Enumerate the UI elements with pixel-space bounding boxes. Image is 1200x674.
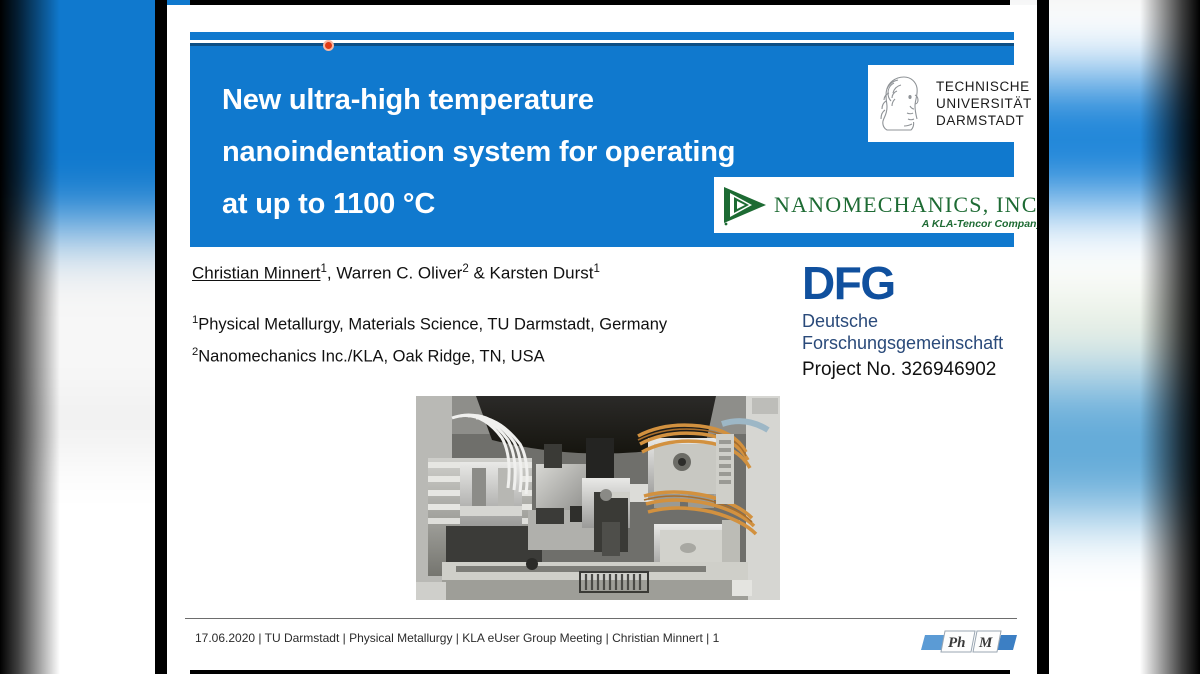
author-line: Christian Minnert1, Warren C. Oliver2 & … [192, 263, 600, 284]
tu-darmstadt-wordmark: TECHNISCHE UNIVERSITÄT DARMSTADT [936, 78, 1032, 129]
dfg-funding-block: DFG Deutsche Forschungsgemeinschaft Proj… [802, 260, 1003, 381]
title-line-1: New ultra-high temperature [222, 74, 862, 126]
phm-logo: Ph M [921, 629, 1017, 655]
athena-head-icon [874, 73, 930, 135]
nanomechanics-logo: NANOMECHANICS, INC. A KLA-Tencor Company [714, 177, 1037, 233]
author-3: Karsten Durst [490, 264, 594, 283]
tu-logo-line-3: DARMSTADT [936, 112, 1032, 129]
presentation-slide: New ultra-high temperature nanoindentati… [167, 5, 1037, 670]
tu-logo-line-1: TECHNISCHE [936, 78, 1032, 95]
affiliation-2-text: Nanomechanics Inc./KLA, Oak Ridge, TN, U… [198, 348, 544, 366]
affiliation-1: 1Physical Metallurgy, Materials Science,… [192, 314, 667, 335]
footer-meta: 17.06.2020 | TU Darmstadt | Physical Met… [195, 631, 719, 645]
author-3-affil-marker: 1 [593, 263, 599, 275]
apparatus-photo-graphic [416, 396, 780, 600]
letterbox-pillar-left [155, 0, 167, 674]
title-banner: New ultra-high temperature nanoindentati… [190, 32, 1014, 247]
video-stage: New ultra-high temperature nanoindentati… [0, 0, 1200, 674]
right-edge-vignette [1140, 0, 1200, 674]
letterbox-pillar-right [1037, 0, 1049, 674]
phm-logo-ph-text: Ph [948, 635, 966, 651]
affiliation-1-text: Physical Metallurgy, Materials Science, … [198, 316, 667, 334]
author-2: Warren C. Oliver [336, 264, 462, 283]
dfg-logo: DFG [802, 260, 1003, 306]
dfg-project-number: Project No. 326946902 [802, 359, 1003, 381]
nanomechanics-tagline: A KLA-Tencor Company [922, 218, 1037, 230]
affiliation-2: 2Nanomechanics Inc./KLA, Oak Ridge, TN, … [192, 346, 545, 367]
title-line-2: nanoindentation system for operating [222, 126, 862, 178]
author-separator-2: & [469, 264, 490, 283]
dfg-fullname: Deutsche Forschungsgemeinschaft [802, 310, 1003, 354]
dfg-fullname-line-1: Deutsche [802, 310, 1003, 332]
tu-darmstadt-logo: TECHNISCHE UNIVERSITÄT DARMSTADT [868, 65, 1037, 142]
title-rule-dark [190, 43, 1014, 46]
phm-logo-m-text: M [978, 635, 993, 651]
annotation-marker-dot [323, 40, 334, 51]
nanomechanics-wordmark: NANOMECHANICS, INC. [774, 192, 1037, 218]
tu-logo-line-2: UNIVERSITÄT [936, 95, 1032, 112]
footer-divider [185, 618, 1017, 619]
presenting-author: Christian Minnert [192, 264, 321, 283]
apparatus-photo [416, 396, 780, 600]
author-separator-1: , [327, 264, 336, 283]
green-triangle-mark-icon [722, 184, 768, 226]
left-edge-vignette [0, 0, 60, 674]
dfg-fullname-line-2: Forschungsgemeinschaft [802, 332, 1003, 354]
